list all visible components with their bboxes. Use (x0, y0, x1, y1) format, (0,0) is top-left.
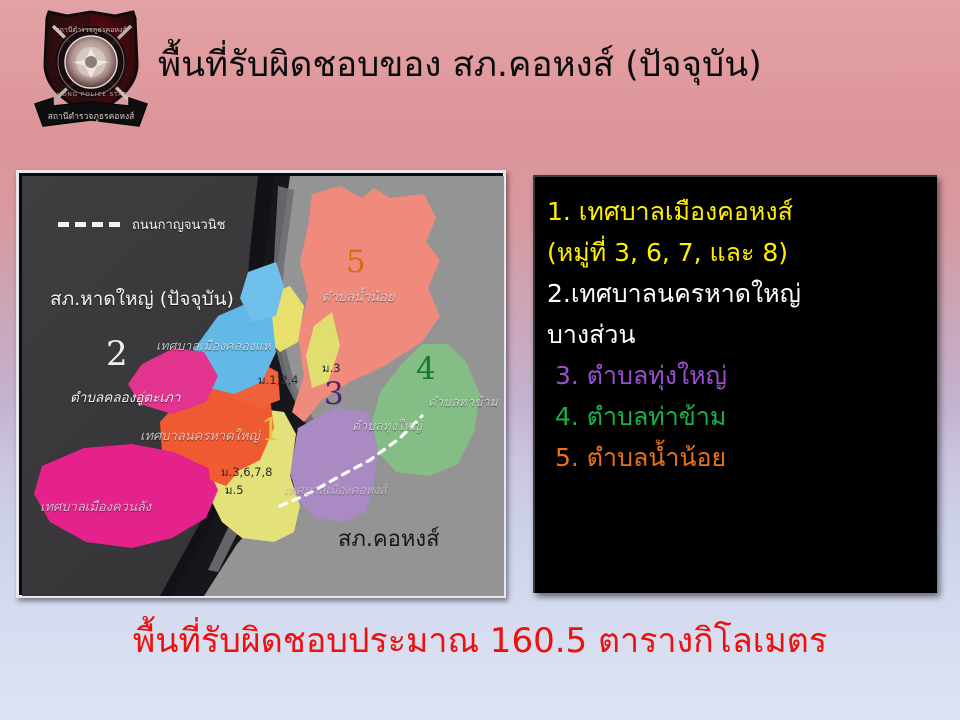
map-label-moo-3678: ม.3,6,7,8 (221, 464, 272, 482)
slide-canvas: สถานีตำรวจภูธรคอหงส์ สถานีตำรวจภูธรคอหงส… (0, 0, 960, 720)
list-item: (หมู่ที่ 3, 6, 7, และ 8) (547, 232, 937, 273)
map-label-sapo-khohong: สภ.คอหงส์ (338, 521, 440, 556)
svg-text:สถานีตำรวจภูธรคอหงส์: สถานีตำรวจภูธรคอหงส์ (48, 111, 135, 122)
list-item: 1. เทศบาลเมืองคอหงส์ (547, 191, 937, 232)
page-title: พื้นที่รับผิดชอบของ สภ.คอหงส์ (ปัจจุบัน) (158, 42, 762, 88)
legend-road-label: ถนนกาญจนวนิช (132, 214, 225, 235)
police-shield-badge-icon: สถานีตำรวจภูธรคอหงส์ สถานีตำรวจภูธรคอหงส… (27, 6, 155, 132)
area-summary-caption: พื้นที่รับผิดชอบประมาณ 160.5 ตารางกิโลเม… (0, 618, 960, 664)
map-label-khlong-hae: เทศบาลเมืองคลองแห (156, 336, 271, 356)
map-region-number-4: 4 (416, 351, 436, 387)
map-label-thung-yai: ตำบลทุ่งใหญ่ (352, 416, 422, 436)
map-region-number-5: 5 (346, 244, 366, 280)
map-label-khohong-municipality: เทศบาลเมืองคอหงส์ (284, 481, 387, 500)
map-label-nam-noi: ตำบลน้ำน้อย (322, 286, 394, 307)
map-label-tha-kham: ตำบลท่าข้าม (428, 392, 498, 412)
map-label-moo-124: ม.1,2,4 (258, 372, 299, 390)
map-image-panel: ถนนกาญจนวนิช สภ.หาดใหญ่ (ปัจจุบัน) ตำบลค… (16, 170, 506, 598)
list-item: 4. ตำบลท่าข้าม (547, 396, 937, 437)
map-label-tambon-khlong-u-taphao: ตำบลคลองอู่ตะเภา (70, 386, 180, 408)
map-photograph: ถนนกาญจนวนิช สภ.หาดใหญ่ (ปัจจุบัน) ตำบลค… (22, 176, 504, 596)
map-label-khuan-lang: เทศบาลเมืองควนลัง (40, 496, 151, 517)
list-item: 3. ตำบลทุ่งใหญ่ (547, 355, 937, 396)
svg-text:KHOHONG POLICE STATION: KHOHONG POLICE STATION (42, 92, 141, 98)
svg-text:สถานีตำรวจภูธรคอหงส์: สถานีตำรวจภูธรคอหงส์ (55, 26, 127, 34)
map-label-moo-5: ม.5 (225, 482, 244, 500)
map-region-number-2: 2 (106, 334, 128, 374)
map-region-number-3: 3 (324, 376, 344, 412)
legend-dashed-line-icon (58, 222, 122, 227)
list-item: 2.เทศบาลนครหาดใหญ่ (547, 273, 937, 314)
map-region-number-1: 1 (261, 412, 281, 448)
slide-header: สถานีตำรวจภูธรคอหงส์ สถานีตำรวจภูธรคอหงส… (0, 0, 960, 140)
list-item: บางส่วน (547, 314, 937, 355)
responsibility-list-panel: 1. เทศบาลเมืองคอหงส์ (หมู่ที่ 3, 6, 7, แ… (533, 175, 937, 593)
map-label-nakhon-hatyai: เทศบาลนครหาดใหญ่ (140, 425, 260, 446)
list-item: 5. ตำบลน้ำน้อย (547, 437, 937, 478)
map-label-sapo-hatyai: สภ.หาดใหญ่ (ปัจจุบัน) (50, 284, 234, 314)
